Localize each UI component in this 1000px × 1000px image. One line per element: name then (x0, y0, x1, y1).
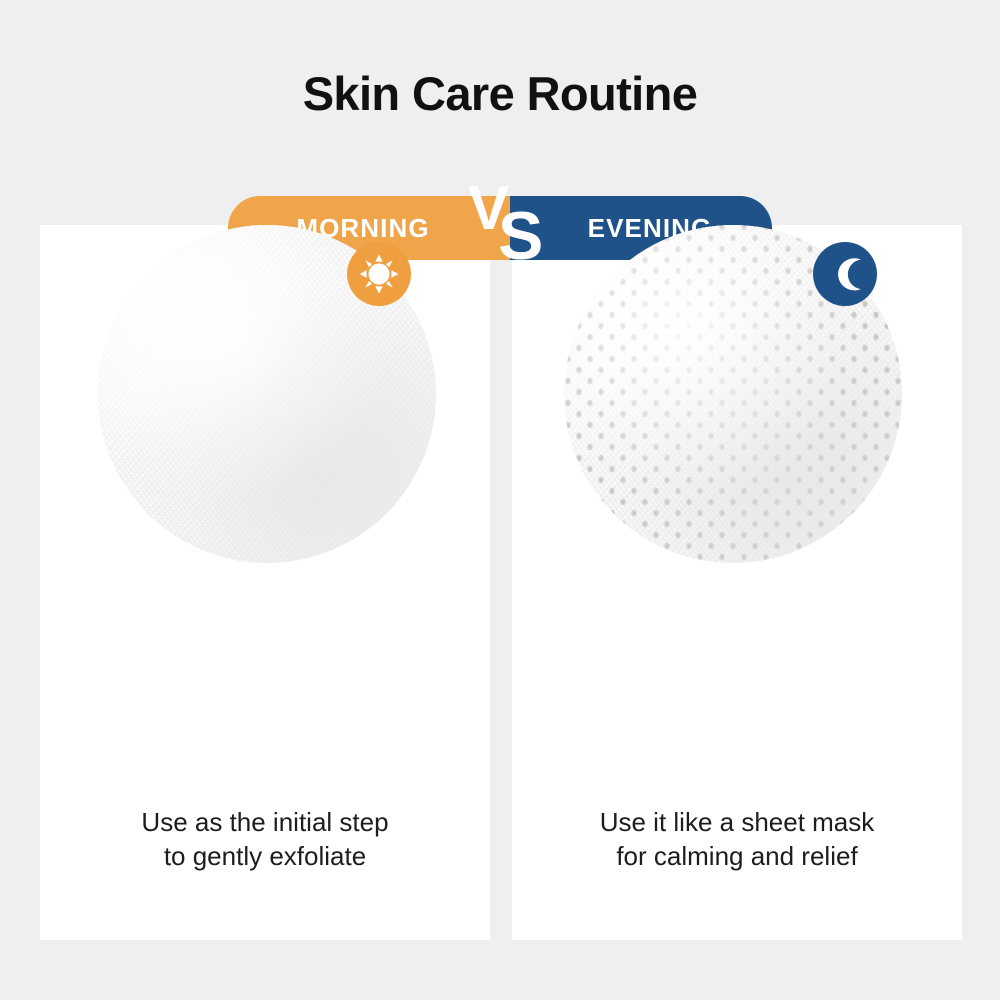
morning-caption: Use as the initial step to gently exfoli… (40, 805, 490, 873)
evening-caption-line-2: for calming and relief (512, 839, 962, 873)
page-title: Skin Care Routine (0, 66, 1000, 121)
sun-icon (347, 242, 411, 306)
infographic-stage: Skin Care Routine MORNING EVENING V S MO… (0, 0, 1000, 1000)
evening-caption: Use it like a sheet mask for calming and… (512, 805, 962, 873)
moon-icon (813, 242, 877, 306)
morning-caption-line-2: to gently exfoliate (40, 839, 490, 873)
evening-caption-line-1: Use it like a sheet mask (512, 805, 962, 839)
morning-pad-figure (78, 225, 438, 585)
evening-pad-figure (544, 225, 904, 585)
morning-caption-line-1: Use as the initial step (40, 805, 490, 839)
